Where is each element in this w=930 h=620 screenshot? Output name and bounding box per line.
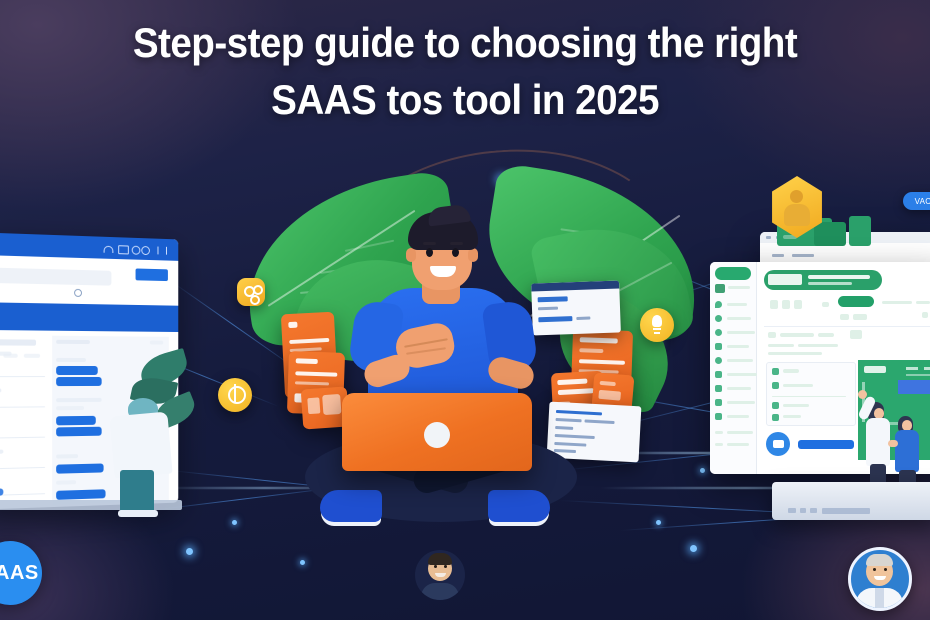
circle-icon bbox=[715, 329, 722, 336]
clock-icon bbox=[715, 315, 722, 322]
search-input[interactable] bbox=[0, 267, 111, 286]
chat-bubble bbox=[56, 427, 102, 437]
chat-bubble bbox=[56, 463, 103, 473]
bulb-icon-badge[interactable] bbox=[640, 308, 674, 342]
sidebar-logo-button[interactable] bbox=[715, 267, 751, 280]
right-panel-base-strip bbox=[772, 482, 930, 520]
user-icon[interactable] bbox=[141, 246, 150, 255]
left-panel-section-band bbox=[0, 302, 178, 332]
right-panel-cta-button[interactable] bbox=[838, 296, 874, 307]
ear-left bbox=[406, 248, 416, 262]
bell-icon[interactable] bbox=[104, 246, 114, 253]
shoe-right bbox=[488, 490, 550, 522]
settings-icon[interactable] bbox=[132, 246, 141, 255]
sidebar-item[interactable] bbox=[715, 440, 753, 449]
chat-bubble bbox=[56, 489, 105, 500]
doc-icon bbox=[715, 385, 722, 392]
top-right-pill-button[interactable]: VAC bbox=[903, 192, 930, 210]
sidebar-item[interactable] bbox=[715, 370, 753, 379]
sidebar-item[interactable] bbox=[715, 428, 753, 437]
sidebar-item[interactable] bbox=[715, 384, 753, 393]
sidebar-item[interactable] bbox=[715, 314, 753, 323]
sidebar-item[interactable] bbox=[715, 328, 753, 337]
avatar-bottom-right[interactable] bbox=[848, 547, 912, 611]
hero-illustration: Step-step guide to choosing the right SA… bbox=[0, 0, 930, 620]
refresh-icon bbox=[715, 357, 722, 364]
list-icon bbox=[715, 343, 722, 350]
menu-icon[interactable] bbox=[158, 247, 167, 255]
eye-left bbox=[426, 248, 433, 257]
saas-badge[interactable]: SAAS bbox=[0, 541, 42, 605]
left-panel-primary-button[interactable] bbox=[136, 268, 168, 281]
sidebar-brand-icon bbox=[715, 284, 725, 293]
money-icon-badge[interactable] bbox=[218, 378, 252, 412]
sidebar-item[interactable] bbox=[715, 356, 753, 365]
title-line-1: Step-step guide to choosing the right bbox=[37, 14, 893, 71]
right-panel-subcard[interactable] bbox=[766, 362, 856, 426]
folder-icon bbox=[715, 371, 722, 378]
cart-icon[interactable] bbox=[118, 245, 129, 254]
ear-right bbox=[468, 248, 478, 262]
chat-bubble bbox=[56, 416, 96, 426]
left-standing-figure bbox=[104, 398, 182, 516]
chat-bubble bbox=[56, 366, 98, 375]
right-panel-bottom-button[interactable] bbox=[798, 440, 854, 449]
avatar-bottom-center[interactable] bbox=[415, 550, 465, 600]
box-icon bbox=[715, 413, 722, 420]
laptop-logo bbox=[424, 422, 450, 448]
chat-bubble bbox=[56, 377, 102, 386]
sidebar-item[interactable] bbox=[715, 342, 753, 351]
droplet-icon bbox=[715, 301, 722, 308]
green-card[interactable] bbox=[849, 216, 871, 246]
sidebar-item[interactable] bbox=[715, 300, 753, 309]
green-card[interactable] bbox=[814, 222, 846, 246]
sidebar-item[interactable] bbox=[715, 412, 753, 421]
search-icon bbox=[74, 289, 82, 297]
shoe-left bbox=[320, 490, 382, 522]
page-title: Step-step guide to choosing the right SA… bbox=[37, 14, 893, 128]
share-icon-badge[interactable] bbox=[237, 278, 265, 306]
eye-right bbox=[452, 248, 459, 257]
chat-icon bbox=[773, 440, 784, 448]
center-figure bbox=[300, 190, 630, 550]
left-panel-header bbox=[0, 232, 178, 260]
title-line-2: SAAS tos tool in 2025 bbox=[37, 71, 893, 128]
grid-icon bbox=[715, 399, 722, 406]
sidebar-item[interactable] bbox=[715, 398, 753, 407]
